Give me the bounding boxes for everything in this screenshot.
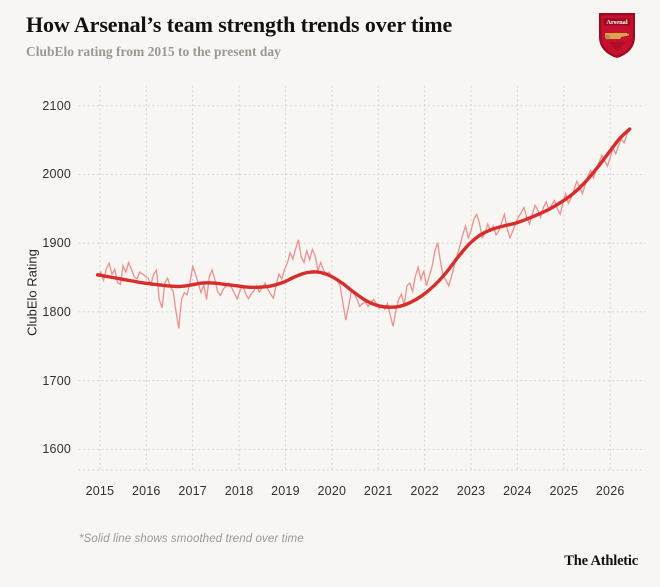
x-tick-label: 2025 <box>540 484 588 498</box>
axis-tick-layer: 1600170018001900200021002015201620172018… <box>0 0 660 587</box>
x-tick-label: 2020 <box>308 484 356 498</box>
x-tick-label: 2016 <box>122 484 170 498</box>
y-axis-title: ClubElo Rating <box>25 233 40 353</box>
chart-footnote: *Solid line shows smoothed trend over ti… <box>79 533 304 545</box>
x-tick-label: 2023 <box>447 484 495 498</box>
y-tick-label: 2000 <box>25 167 71 181</box>
chart-figure: How Arsenal’s team strength trends over … <box>0 0 660 587</box>
x-tick-label: 2015 <box>76 484 124 498</box>
y-tick-label: 1600 <box>25 442 71 456</box>
x-tick-label: 2019 <box>261 484 309 498</box>
x-tick-label: 2022 <box>401 484 449 498</box>
x-tick-label: 2024 <box>493 484 541 498</box>
x-tick-label: 2017 <box>169 484 217 498</box>
brand-wordmark: The Athletic <box>564 553 638 570</box>
x-tick-label: 2018 <box>215 484 263 498</box>
y-tick-label: 1700 <box>25 374 71 388</box>
x-tick-label: 2026 <box>586 484 634 498</box>
x-tick-label: 2021 <box>354 484 402 498</box>
y-tick-label: 2100 <box>25 99 71 113</box>
